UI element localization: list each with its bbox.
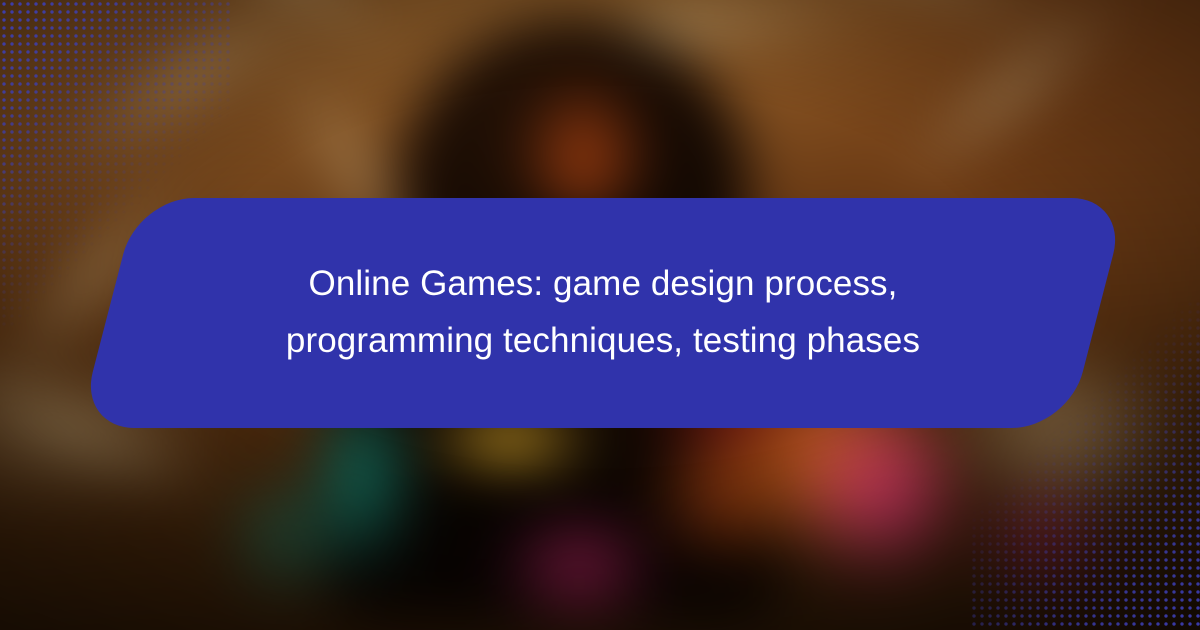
page-title: Online Games: game design process, progr… <box>108 198 1098 428</box>
share-card-canvas: Online Games: game design process, progr… <box>0 0 1200 630</box>
title-banner: Online Games: game design process, progr… <box>108 198 1098 428</box>
